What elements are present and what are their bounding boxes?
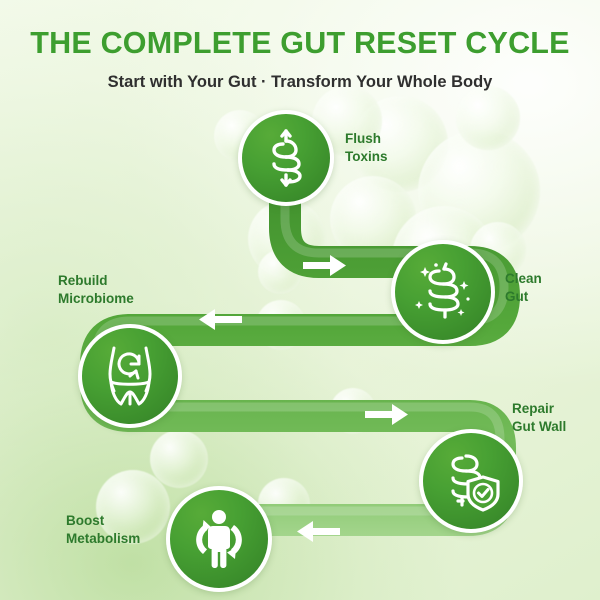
page-subtitle: Start with Your Gut · Transform Your Who… [0,61,600,92]
step-node-repair-gut-wall[interactable] [419,429,523,533]
sparkling-intestine-icon [411,259,475,325]
step-node-flush-toxins[interactable] [238,110,334,206]
person-cycle-icon [185,507,253,571]
intestine-icon [257,127,315,189]
step-node-boost-metabolism[interactable] [166,486,272,592]
step-label-flush-toxins: Flush Toxins [345,130,435,166]
page-title: THE COMPLETE GUT RESET CYCLE [0,0,600,61]
step-node-rebuild-microbiome[interactable] [78,324,182,428]
step-label-clean-gut: Clean Gut [505,270,595,306]
step-label-repair-gut-wall: Repair Gut Wall [512,400,600,436]
step-label-boost-metabolism: Boost Metabolism [66,512,176,548]
step-label-rebuild-microbiome: Rebuild Microbiome [58,272,178,308]
header: THE COMPLETE GUT RESET CYCLE Start with … [0,0,600,92]
infographic-poster: THE COMPLETE GUT RESET CYCLE Start with … [0,0,600,600]
torso-cycle-icon [97,342,163,410]
step-node-clean-gut[interactable] [391,240,495,344]
intestine-shield-icon [438,448,504,514]
